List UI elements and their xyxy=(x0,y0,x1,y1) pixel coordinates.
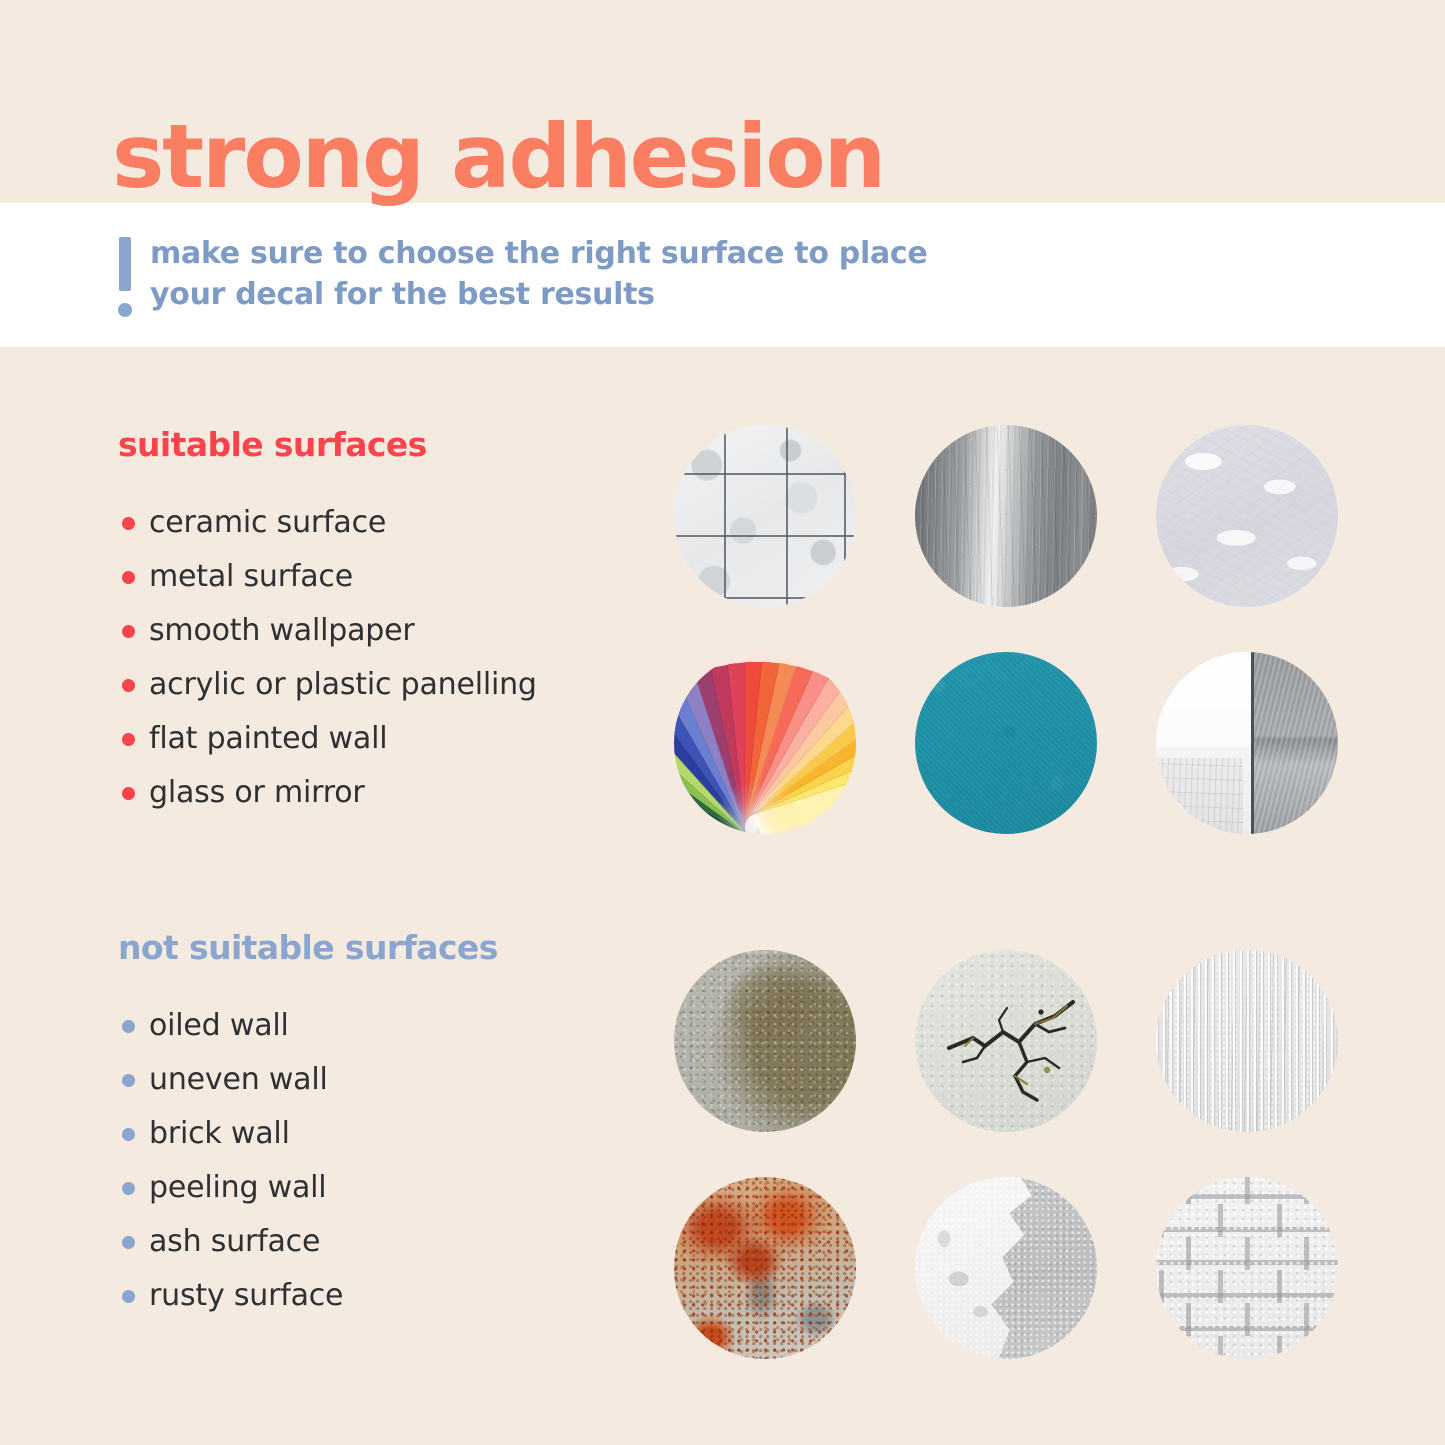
header-note-banner: make sure to choose the right surface to… xyxy=(0,203,1445,347)
list-item: smooth wallpaper xyxy=(122,603,537,657)
list-item: brick wall xyxy=(122,1106,343,1160)
list-item: ash surface xyxy=(122,1214,343,1268)
exclamation-mark-icon xyxy=(118,237,132,321)
list-item-label: flat painted wall xyxy=(149,721,387,756)
bullet-dot-icon xyxy=(122,1074,135,1087)
glass-mirror-panel-photo xyxy=(1156,652,1338,834)
bullet-dot-icon xyxy=(122,733,135,746)
cracked-ash-wall-photo xyxy=(915,950,1097,1132)
bullet-dot-icon xyxy=(122,571,135,584)
bullet-dot-icon xyxy=(122,1020,135,1033)
header-note-row: make sure to choose the right surface to… xyxy=(118,233,927,321)
bullet-dot-icon xyxy=(122,517,135,530)
white-brick-wall-photo xyxy=(1156,1177,1338,1359)
suitable-surfaces-image-grid xyxy=(674,425,1338,834)
bullet-dot-icon xyxy=(122,1290,135,1303)
list-item: uneven wall xyxy=(122,1052,343,1106)
list-item-label: ceramic surface xyxy=(149,505,386,540)
list-item-label: uneven wall xyxy=(149,1062,328,1097)
ceramic-tile-surface-photo xyxy=(674,425,856,607)
list-item-label: rusty surface xyxy=(149,1278,343,1313)
brick-course xyxy=(1156,1177,1338,1204)
list-item: metal surface xyxy=(122,549,537,603)
header-note-text: make sure to choose the right surface to… xyxy=(150,233,927,315)
brick-course xyxy=(1156,1303,1338,1336)
brick-course xyxy=(1156,1336,1338,1359)
list-item: oiled wall xyxy=(122,998,343,1052)
not-suitable-surfaces-image-grid xyxy=(674,950,1338,1359)
list-item: ceramic surface xyxy=(122,495,537,549)
smooth-wallpaper-surface-photo xyxy=(1156,425,1338,607)
list-item: acrylic or plastic panelling xyxy=(122,657,537,711)
list-item: rusty surface xyxy=(122,1268,343,1322)
brick-course xyxy=(1156,1270,1338,1303)
page-title: strong adhesion xyxy=(112,113,884,201)
list-item-label: glass or mirror xyxy=(149,775,365,810)
brick-course xyxy=(1156,1204,1338,1237)
list-item-label: metal surface xyxy=(149,559,353,594)
suitable-surfaces-heading: suitable surfaces xyxy=(118,425,427,464)
not-suitable-surfaces-list: oiled wall uneven wall brick wall peelin… xyxy=(122,998,343,1322)
list-item-label: acrylic or plastic panelling xyxy=(149,667,537,702)
suitable-surfaces-list: ceramic surface metal surface smooth wal… xyxy=(122,495,537,819)
not-suitable-surfaces-heading: not suitable surfaces xyxy=(118,928,498,967)
acrylic-plastic-panel-fan-photo xyxy=(674,652,856,834)
list-item-label: smooth wallpaper xyxy=(149,613,415,648)
list-item: flat painted wall xyxy=(122,711,537,765)
list-item-label: oiled wall xyxy=(149,1008,289,1043)
brick-course xyxy=(1156,1237,1338,1270)
uneven-textured-wall-photo xyxy=(1156,950,1338,1132)
bullet-dot-icon xyxy=(122,1182,135,1195)
brushed-metal-surface-photo xyxy=(915,425,1097,607)
list-item-label: brick wall xyxy=(149,1116,290,1151)
oiled-stained-wall-photo xyxy=(674,950,856,1132)
bullet-dot-icon xyxy=(122,787,135,800)
list-item-label: peeling wall xyxy=(149,1170,326,1205)
bullet-dot-icon xyxy=(122,1236,135,1249)
bullet-dot-icon xyxy=(122,679,135,692)
list-item-label: ash surface xyxy=(149,1224,320,1259)
rusty-metal-surface-photo xyxy=(674,1177,856,1359)
bullet-dot-icon xyxy=(122,625,135,638)
peeling-paint-wall-photo xyxy=(915,1177,1097,1359)
bullet-dot-icon xyxy=(122,1128,135,1141)
flat-painted-teal-wall-photo xyxy=(915,652,1097,834)
list-item: glass or mirror xyxy=(122,765,537,819)
list-item: peeling wall xyxy=(122,1160,343,1214)
